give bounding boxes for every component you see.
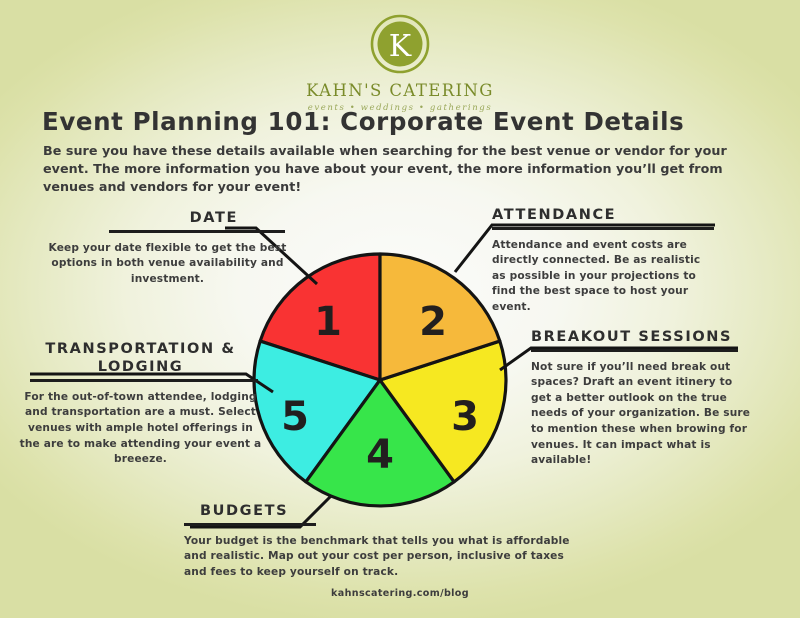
callout-budgets: BUDGETS Your budget is the benchmark tha… xyxy=(184,502,604,580)
callout-transportation-lodging: TRANSPORTATION & LODGING For the out-of-… xyxy=(18,340,263,468)
pie-label-2: 2 xyxy=(419,299,447,345)
svg-text:K: K xyxy=(389,29,412,64)
callout-date-heading: DATE xyxy=(45,209,290,227)
intro-paragraph: Be sure you have these details available… xyxy=(43,142,743,196)
pie-label-3: 3 xyxy=(451,394,479,440)
pie-label-5: 5 xyxy=(281,394,309,440)
callout-date: DATE Keep your date flexible to get the … xyxy=(45,209,290,287)
page-title: Event Planning 101: Corporate Event Deta… xyxy=(42,107,684,136)
callout-transport-body: For the out-of-town attendee, lodging an… xyxy=(18,390,263,468)
callout-transport-heading: TRANSPORTATION & LODGING xyxy=(18,340,263,376)
callout-date-rule xyxy=(109,230,285,233)
brand-logo: K KAHN'S CATERING events • weddings • ga… xyxy=(0,14,800,113)
callout-attendance: ATTENDANCE Attendance and event costs ar… xyxy=(492,206,717,316)
pie-chart-svg: 1 2 3 4 5 xyxy=(252,252,508,508)
callout-attendance-heading: ATTENDANCE xyxy=(492,206,717,224)
footer-url[interactable]: kahnscatering.com/blog xyxy=(0,588,800,599)
pie-label-1: 1 xyxy=(314,299,342,345)
infographic-page: K KAHN'S CATERING events • weddings • ga… xyxy=(0,0,800,618)
pie-chart: 1 2 3 4 5 xyxy=(252,252,508,508)
callout-breakout-rule xyxy=(531,349,738,352)
pie-label-4: 4 xyxy=(366,432,394,478)
callout-breakout-heading: BREAKOUT SESSIONS xyxy=(531,328,753,346)
callout-budgets-heading: BUDGETS xyxy=(184,502,604,520)
callout-transport-heading-line2: LODGING xyxy=(98,359,184,375)
callout-breakout-body: Not sure if you’ll need break out spaces… xyxy=(531,360,753,469)
callout-breakout-sessions: BREAKOUT SESSIONS Not sure if you’ll nee… xyxy=(531,328,753,469)
brand-name: KAHN'S CATERING xyxy=(0,81,800,100)
callout-budgets-rule xyxy=(184,523,316,526)
kahns-monogram-k-icon: K xyxy=(370,14,430,74)
callout-attendance-rule xyxy=(492,227,714,230)
callout-attendance-body: Attendance and event costs are directly … xyxy=(492,238,717,316)
callout-transport-rule xyxy=(30,379,258,382)
callout-budgets-body: Your budget is the benchmark that tells … xyxy=(184,534,584,581)
callout-transport-heading-line1: TRANSPORTATION & xyxy=(45,341,235,357)
callout-date-body: Keep your date flexible to get the best … xyxy=(45,241,290,288)
